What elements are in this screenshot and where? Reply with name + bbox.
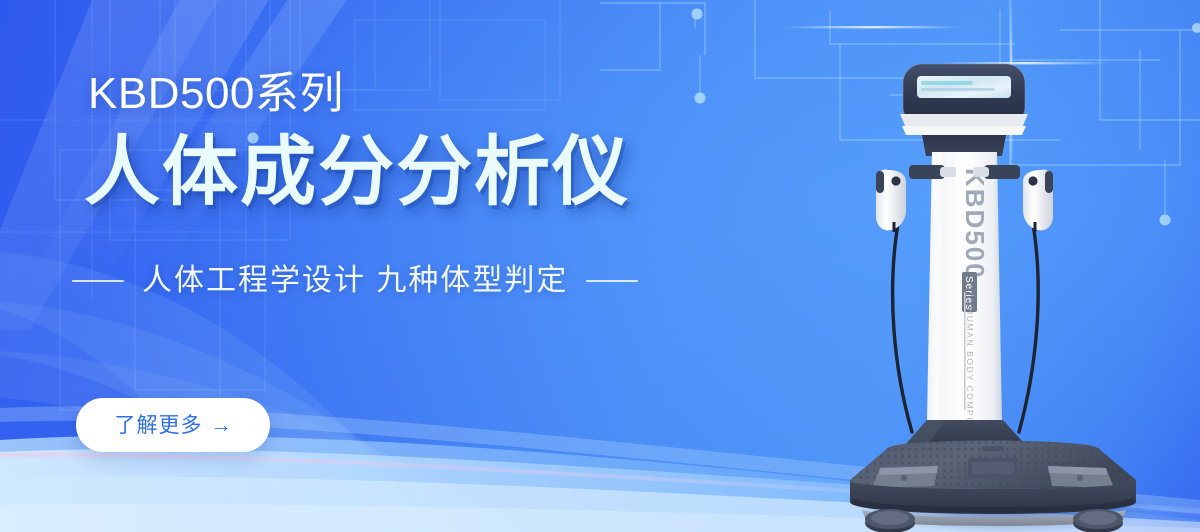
banner-subtitle-row: 人体工程学设计 九种体型判定	[72, 266, 638, 296]
learn-more-label: 了解更多	[115, 415, 203, 436]
hero-banner: KBD500 Series HUMAN BODY COMPOSITION ANA…	[0, 0, 1200, 532]
banner-subtitle: 人体工程学设计 九种体型判定	[142, 266, 568, 296]
subtitle-rule-right	[586, 280, 638, 282]
arrow-right-icon: →	[211, 415, 232, 436]
learn-more-button[interactable]: 了解更多 →	[76, 398, 270, 452]
banner-headline: 人体成分分析仪	[84, 135, 630, 211]
banner-content: KBD500系列 人体成分分析仪 人体工程学设计 九种体型判定 了解更多 →	[0, 0, 1200, 532]
banner-eyebrow: KBD500系列	[88, 72, 344, 116]
subtitle-rule-left	[72, 280, 124, 282]
